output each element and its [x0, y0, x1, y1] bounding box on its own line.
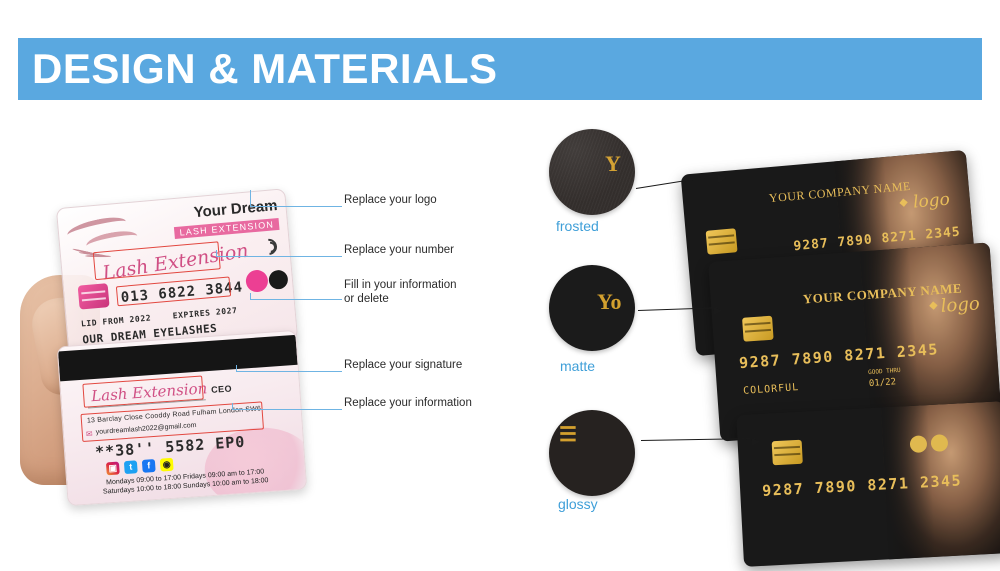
- chip-icon: [78, 283, 110, 310]
- swatch-frosted-glyph: Y: [605, 151, 621, 177]
- arrow-head-frosted: [717, 174, 726, 183]
- swatch-label-matte: matte: [560, 358, 595, 374]
- slide-page: DESIGN & MATERIALS Your Dream LASH EXTEN…: [0, 0, 1000, 571]
- card-good-thru-value: 01/22: [869, 377, 897, 389]
- card-back-role: CEO: [211, 383, 233, 394]
- card-logo-text: logo: [940, 293, 980, 317]
- sample-card-back: Lash Extension CEO 13 Barclay Close Cood…: [57, 330, 308, 506]
- swatch-glossy: ☰: [549, 410, 635, 496]
- leader-line-signature: [236, 371, 342, 372]
- leader-tick-info: [250, 293, 251, 300]
- social-icons: ▣ t f ◉: [106, 458, 174, 476]
- swatch-label-frosted: frosted: [556, 218, 599, 234]
- diamond-icon: ◆: [929, 298, 938, 312]
- sample-card-photo: Your Dream LASH EXTENSION Lash Extension…: [20, 170, 350, 520]
- swatch-matte: Yo: [549, 265, 635, 351]
- diamond-icon: ◆: [899, 195, 909, 209]
- snapchat-icon: ◉: [160, 458, 174, 472]
- callout-replace-number: Replace your number: [344, 243, 454, 257]
- swatch-glossy-glyph: ☰: [559, 422, 575, 447]
- arrow-head-matte: [714, 307, 722, 315]
- callout-fill-information: Fill in your information or delete: [344, 278, 456, 306]
- page-title: DESIGN & MATERIALS: [32, 46, 498, 92]
- leader-tick-signature: [236, 365, 237, 372]
- leader-line-logo: [250, 206, 342, 207]
- chip-icon: [772, 440, 803, 466]
- chip-icon: [742, 316, 774, 342]
- pink-dot-icon: [245, 269, 269, 293]
- leader-line-number: [216, 256, 342, 257]
- leader-tick-logo: [250, 190, 251, 207]
- black-dot-icon: [268, 269, 289, 290]
- card-logo-text: logo: [912, 189, 950, 212]
- twitter-icon: t: [124, 460, 138, 474]
- arrow-head-glossy: [752, 438, 760, 446]
- leader-line-information: [232, 409, 342, 410]
- swatch-frosted: Y: [549, 129, 635, 215]
- leader-line-info: [250, 299, 342, 300]
- card-sub-label: COLORFUL: [743, 382, 800, 397]
- callout-replace-logo: Replace your logo: [344, 193, 437, 207]
- gold-dots-icon: [910, 434, 949, 453]
- callout-replace-information: Replace your information: [344, 396, 472, 410]
- leader-tick-number: [216, 250, 217, 257]
- swatch-matte-glyph: Yo: [597, 289, 621, 315]
- black-card-bottom: 9287 7890 8271 2345: [736, 401, 1000, 567]
- instagram-icon: ▣: [106, 462, 120, 476]
- callout-replace-signature: Replace your signature: [344, 358, 462, 372]
- facebook-icon: f: [142, 459, 156, 473]
- leader-tick-information: [232, 403, 233, 410]
- card-front-brand: Your Dream LASH EXTENSION: [172, 198, 279, 241]
- swatch-label-glossy: glossy: [558, 496, 598, 512]
- chip-icon: [706, 228, 738, 255]
- highlight-box-number: [116, 276, 231, 306]
- contactless-icon: [258, 236, 278, 256]
